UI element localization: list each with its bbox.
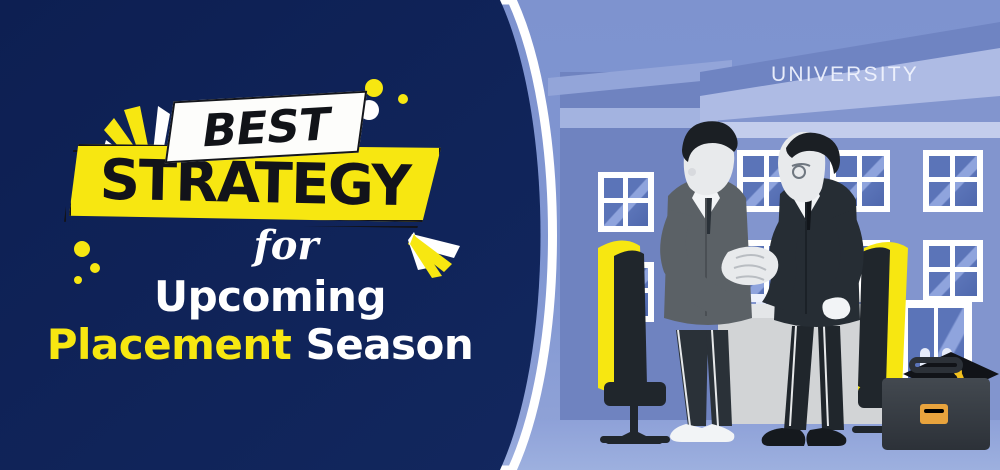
- yellow-dot-large-bottom: [74, 241, 90, 257]
- headline-placement-word: Placement: [47, 320, 292, 369]
- handshake: [721, 246, 778, 285]
- headline-line-upcoming: Upcoming: [60, 272, 480, 321]
- headline-block: STRATEGY BEST for Upcoming Placement Sea…: [0, 0, 520, 470]
- headline-line-placement-season: Placement Season: [40, 320, 480, 369]
- yellow-dot-small-top: [398, 94, 408, 104]
- main-cornice: [718, 122, 1000, 138]
- best-word: BEST: [165, 91, 367, 164]
- promo-banner: UNIVERSITY: [0, 0, 1000, 470]
- yellow-dot-large-top: [365, 79, 383, 97]
- university-sign-text: UNIVERSITY: [771, 63, 919, 86]
- for-word: for: [196, 222, 376, 269]
- headline-season-word: Season: [305, 320, 473, 369]
